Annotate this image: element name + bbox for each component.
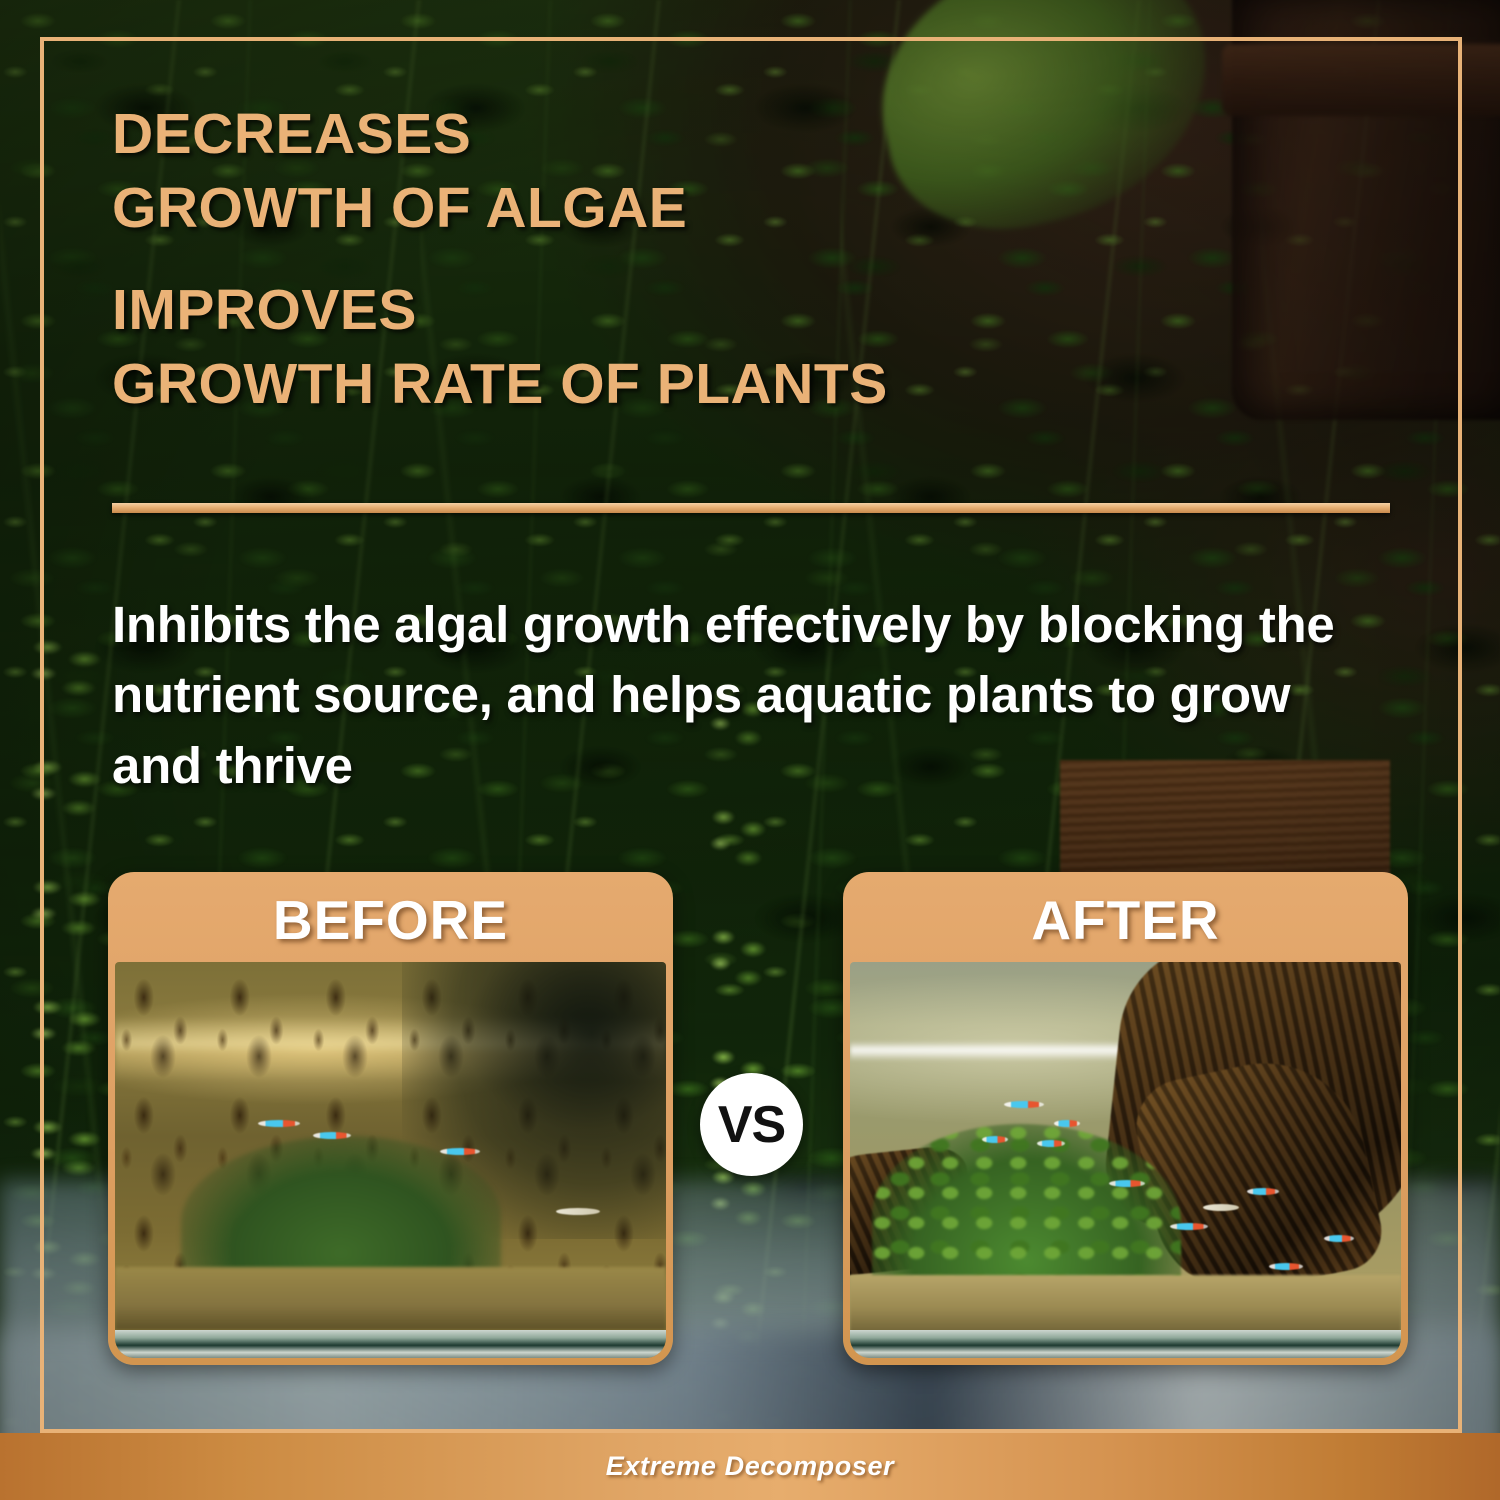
product-name-label: Extreme Decomposer: [606, 1451, 894, 1482]
before-panel[interactable]: BEFORE: [108, 872, 673, 1365]
before-panel-title: BEFORE: [113, 877, 668, 962]
after-fish-7: [1203, 1204, 1239, 1211]
after-panel-title: AFTER: [848, 877, 1403, 962]
content-layer: DECREASES GROWTH OF ALGAE IMPROVES GROWT…: [0, 0, 1500, 1500]
headline-line-1: DECREASES: [112, 97, 1312, 171]
footer-bar: Extreme Decomposer: [0, 1433, 1500, 1500]
versus-badge: VS: [700, 1073, 803, 1176]
before-fish-4: [556, 1208, 600, 1215]
headline-block-1: DECREASES GROWTH OF ALGAE: [112, 97, 1312, 245]
body-description-text: Inhibits the algal growth effectively by…: [112, 590, 1337, 801]
after-fish-5: [1109, 1180, 1145, 1187]
gold-divider-line: [112, 503, 1390, 513]
headline-line-3: IMPROVES: [112, 273, 1312, 347]
before-substrate: [115, 1267, 666, 1330]
headline-block-2: IMPROVES GROWTH RATE OF PLANTS: [112, 273, 1312, 421]
after-substrate: [850, 1275, 1401, 1334]
after-fish-1: [1004, 1101, 1044, 1108]
after-fish-10: [1269, 1263, 1303, 1270]
before-tank-rim: [115, 1330, 666, 1358]
headline-group: DECREASES GROWTH OF ALGAE IMPROVES GROWT…: [112, 97, 1312, 421]
headline-line-2: GROWTH OF ALGAE: [112, 171, 1312, 245]
after-fish-6: [1247, 1188, 1279, 1195]
headline-line-4: GROWTH RATE OF PLANTS: [112, 347, 1312, 421]
after-panel[interactable]: AFTER: [843, 872, 1408, 1365]
after-aquarium-image: [850, 962, 1401, 1358]
before-aquarium-image: [115, 962, 666, 1358]
after-tank-rim: [850, 1330, 1401, 1358]
